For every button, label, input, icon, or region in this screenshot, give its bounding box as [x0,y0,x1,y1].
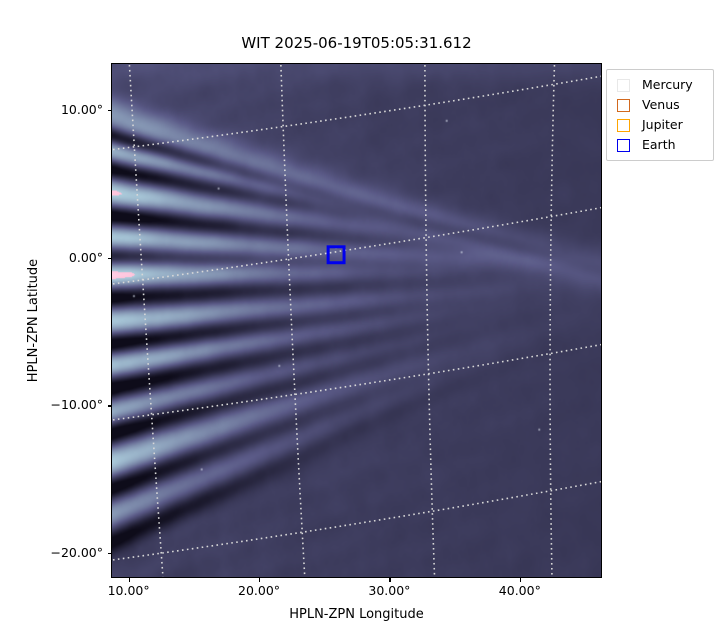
y-tick-label: −10.00° [0,398,103,412]
y-tick-mark [108,405,112,406]
y-axis-label: HPLN-ZPN Latitude [26,63,42,578]
legend-box[interactable]: MercuryVenusJupiterEarth [606,69,714,161]
y-tick-mark [108,553,112,554]
y-tick-label: 0.00° [0,251,103,265]
legend-swatch-jupiter-icon [617,119,630,132]
legend-swatch-venus-icon [617,99,630,112]
y-tick-mark [108,110,112,111]
page-title: WIT 2025-06-19T05:05:31.612 [111,34,602,52]
x-tick-mark [259,578,260,582]
y-tick-label: −20.00° [0,546,103,560]
x-tick-mark [389,578,390,582]
y-tick-label: 10.00° [0,103,103,117]
y-tick-mark [108,258,112,259]
legend-label: Jupiter [642,118,683,132]
legend-item-earth[interactable]: Earth [613,135,707,155]
legend-item-mercury[interactable]: Mercury [613,75,707,95]
legend-swatch-mercury-icon [617,79,630,92]
legend-item-venus[interactable]: Venus [613,95,707,115]
legend-label: Mercury [642,78,693,92]
plot-axes[interactable] [111,63,602,578]
figure-canvas: WIT 2025-06-19T05:05:31.612 10.00°0.00°−… [0,0,720,640]
legend-item-jupiter[interactable]: Jupiter [613,115,707,135]
x-tick-label: 40.00° [499,584,541,598]
legend-label: Earth [642,138,676,152]
legend-label: Venus [642,98,680,112]
x-tick-label: 10.00° [108,584,150,598]
x-tick-mark [520,578,521,582]
earth-marker[interactable] [328,247,344,263]
x-tick-label: 30.00° [368,584,410,598]
planet-markers-overlay [112,64,601,577]
x-tick-label: 20.00° [238,584,280,598]
legend-swatch-earth-icon [617,139,630,152]
x-tick-mark [129,578,130,582]
x-axis-label: HPLN-ZPN Longitude [111,607,602,623]
